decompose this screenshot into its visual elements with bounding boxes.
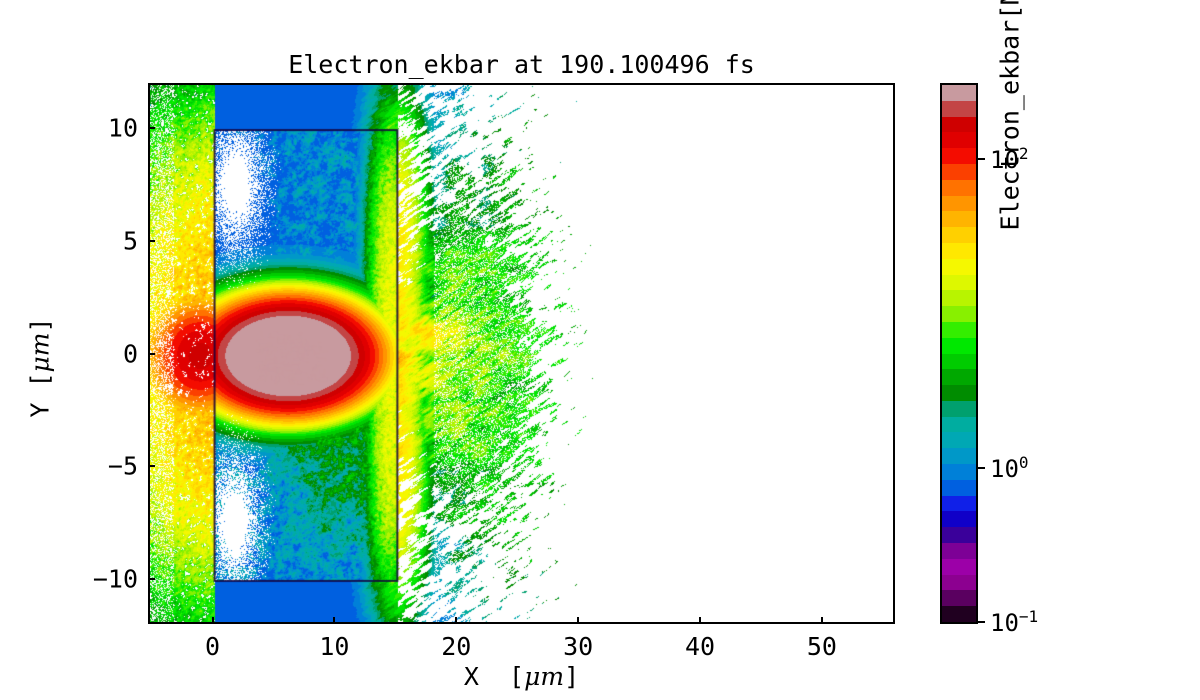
colorbar-band (942, 543, 976, 559)
y-tick-label: −10 (18, 564, 138, 593)
y-tick-mark (148, 353, 155, 355)
y-tick-mark (148, 127, 155, 129)
colorbar-band (942, 227, 976, 243)
x-tick-mark (333, 617, 335, 624)
x-tick-mark (699, 617, 701, 624)
colorbar-band (942, 527, 976, 543)
colorbar-tick-label: 10−1 (990, 607, 1038, 637)
colorbar-label: Electron_ekbar[MeV] (996, 0, 1025, 368)
x-tick-label: 50 (807, 632, 837, 661)
x-tick-label: 30 (563, 632, 593, 661)
colorbar-band (942, 85, 976, 101)
colorbar-tick-mark (978, 158, 985, 160)
y-tick-mark (148, 465, 155, 467)
main-axes (148, 83, 895, 624)
colorbar-band (942, 511, 976, 527)
colorbar-band (942, 401, 976, 417)
colorbar-band (942, 464, 976, 480)
colorbar (940, 83, 978, 624)
x-tick-label: 10 (319, 632, 349, 661)
colorbar-band (942, 369, 976, 385)
colorbar-band (942, 196, 976, 212)
colorbar-band (942, 606, 976, 622)
colorbar-band (942, 417, 976, 433)
y-tick-label: 5 (18, 226, 138, 255)
colorbar-band (942, 385, 976, 401)
y-tick-mark (148, 578, 155, 580)
colorbar-band (942, 243, 976, 259)
colorbar-band (942, 101, 976, 117)
x-tick-mark (455, 617, 457, 624)
colorbar-band (942, 559, 976, 575)
colorbar-band (942, 496, 976, 512)
x-tick-label: 20 (441, 632, 471, 661)
colorbar-band (942, 148, 976, 164)
colorbar-band (942, 290, 976, 306)
y-tick-mark (148, 240, 155, 242)
colorbar-band (942, 322, 976, 338)
y-tick-label: 10 (18, 114, 138, 143)
y-axis-label: Y [μm] (26, 268, 55, 468)
colorbar-tick-mark (978, 467, 985, 469)
colorbar-band (942, 180, 976, 196)
colorbar-band (942, 590, 976, 606)
colorbar-band (942, 354, 976, 370)
colorbar-tick-label: 100 (990, 453, 1029, 483)
heatmap-area (150, 85, 893, 622)
colorbar-tick-mark (978, 621, 985, 623)
colorbar-band (942, 164, 976, 180)
colorbar-band (942, 211, 976, 227)
colorbar-band (942, 432, 976, 448)
colorbar-band (942, 448, 976, 464)
colorbar-band (942, 275, 976, 291)
colorbar-band (942, 338, 976, 354)
x-tick-label: 0 (205, 632, 220, 661)
colorbar-band (942, 575, 976, 591)
x-tick-mark (212, 617, 214, 624)
colorbar-band (942, 306, 976, 322)
figure-canvas: Electron_ekbar at 190.100496 fs 01020304… (0, 0, 1200, 700)
colorbar-band (942, 480, 976, 496)
colorbar-band (942, 132, 976, 148)
x-tick-mark (577, 617, 579, 624)
x-axis-label: X [μm] (148, 662, 895, 691)
colorbar-band (942, 259, 976, 275)
x-tick-label: 40 (685, 632, 715, 661)
colorbar-band (942, 117, 976, 133)
electron-ekbar-heatmap (150, 85, 893, 622)
x-tick-mark (821, 617, 823, 624)
plot-title: Electron_ekbar at 190.100496 fs (148, 50, 895, 79)
